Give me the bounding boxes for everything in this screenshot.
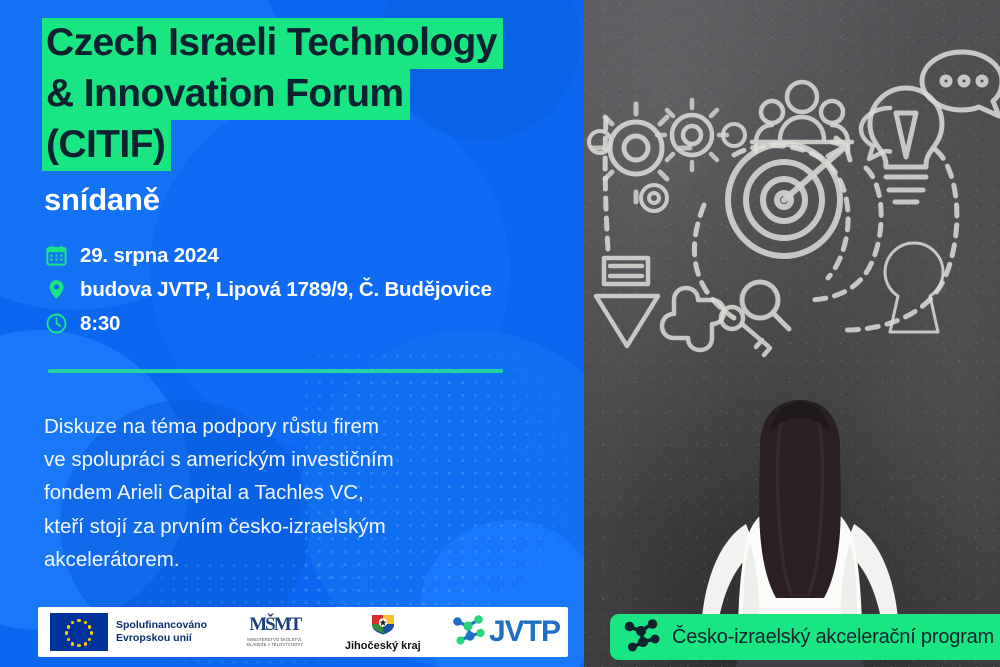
kraj-label: Jihočeský kraj xyxy=(341,640,425,652)
page-title: Czech Israeli Technology & Innovation Fo… xyxy=(42,18,562,171)
clock-icon xyxy=(44,311,69,336)
lightbulb-icon xyxy=(870,88,942,202)
subtitle: snídaně xyxy=(44,182,160,218)
eu-logo-text: Spolufinancováno Evropskou unií xyxy=(116,619,207,646)
chalk-drawing-group xyxy=(584,0,1000,400)
detail-text-date: 29. srpna 2024 xyxy=(80,244,219,268)
detail-text-location: budova JVTP, Lipová 1789/9, Č. Budějovic… xyxy=(80,278,492,302)
event-poster: Czech Israeli Technology & Innovation Fo… xyxy=(0,0,1000,667)
msmt-sub-line-1: MINISTERSTVO ŠKOLSTVÍ, xyxy=(247,637,302,642)
eu-text-line-1: Spolufinancováno xyxy=(116,619,207,631)
banner-label: Česko-izraelský akcelerační program xyxy=(672,626,994,649)
eu-flag-icon xyxy=(50,613,108,651)
jihocesky-kraj-logo: Jihočeský kraj xyxy=(341,613,425,652)
kraj-shield-icon xyxy=(370,622,396,639)
eu-text-line-2: Evropskou unií xyxy=(116,632,192,644)
target-arrow-icon xyxy=(728,138,850,256)
woman-at-chalkboard-photo xyxy=(584,0,1000,667)
description-line: Diskuze na téma podpory růstu firem xyxy=(44,410,514,443)
title-line-1: Czech Israeli Technology xyxy=(42,18,503,69)
sponsor-logo-bar: Spolufinancováno Evropskou unií MŠMT MIN… xyxy=(38,607,568,657)
description-line: akcelerátorem. xyxy=(44,543,514,576)
description-line: kteří stojí za prvním česko-izraelským xyxy=(44,510,514,543)
event-description: Diskuze na téma podpory růstu firem ve s… xyxy=(44,410,514,576)
msmt-mark: MŠMT xyxy=(237,616,313,633)
magnifier-icon xyxy=(742,282,789,329)
gears-icon xyxy=(589,100,745,211)
title-line-2: & Innovation Forum xyxy=(42,69,410,120)
description-line: fondem Arieli Capital a Tachles VC, xyxy=(44,476,514,509)
detail-text-time: 8:30 xyxy=(80,312,120,336)
keyhole-icon xyxy=(885,243,943,332)
event-details: 29. srpna 2024 budova JVTP, Lipová 1789/… xyxy=(44,243,574,345)
puzzle-piece-icon xyxy=(662,288,724,350)
molecule-network-icon xyxy=(622,617,662,658)
title-line-3: (CITIF) xyxy=(42,120,171,171)
eu-logo: Spolufinancováno Evropskou unií xyxy=(50,613,207,651)
calendar-icon xyxy=(44,243,69,268)
detail-row-time: 8:30 xyxy=(44,311,574,336)
msmt-sub-line-2: MLÁDEŽE A TĚLOVÝCHOVY xyxy=(246,642,303,647)
flowchart-arrow-icon xyxy=(596,258,658,346)
speech-bubble-icon xyxy=(861,52,1000,159)
program-banner: Česko-izraelský akcelerační program xyxy=(610,614,1000,660)
jvtp-molecule-icon xyxy=(451,613,487,652)
jvtp-logo: JVTP xyxy=(451,613,560,652)
location-pin-icon xyxy=(44,277,69,302)
detail-row-date: 29. srpna 2024 xyxy=(44,243,574,268)
msmt-logo: MŠMT MINISTERSTVO ŠKOLSTVÍ, MLÁDEŽE A TĚ… xyxy=(237,616,313,647)
msmt-subtitle: MINISTERSTVO ŠKOLSTVÍ, MLÁDEŽE A TĚLOVÝC… xyxy=(237,637,313,648)
description-line: ve spolupráci s americkým investičním xyxy=(44,443,514,476)
jvtp-label: JVTP xyxy=(489,615,560,649)
detail-row-location: budova JVTP, Lipová 1789/9, Č. Budějovic… xyxy=(44,277,574,302)
section-divider xyxy=(48,369,503,373)
